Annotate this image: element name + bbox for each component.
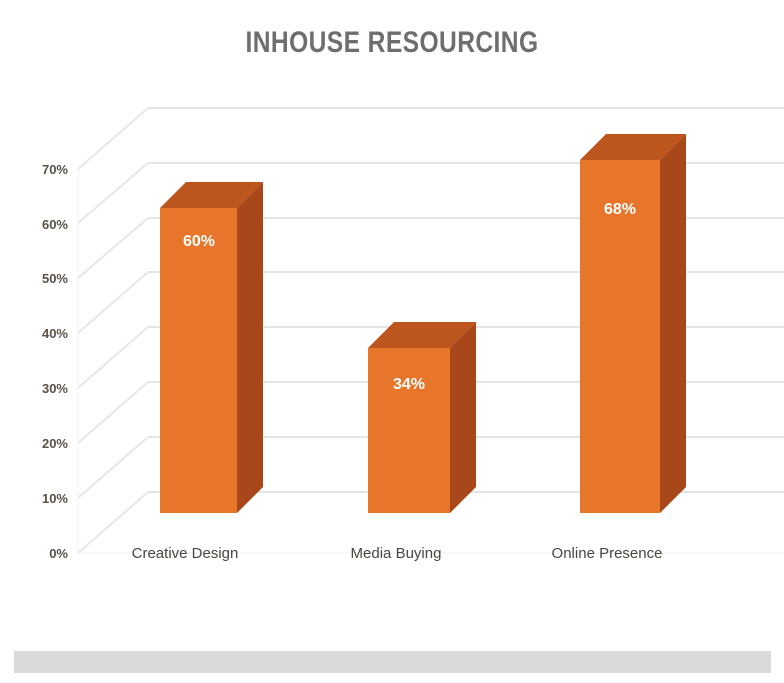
y-tick-label-60: 60% — [42, 217, 68, 232]
y-tick-label-30: 30% — [42, 381, 68, 396]
bar-side-face — [450, 322, 476, 513]
bar-online-presence[interactable]: 68% — [580, 134, 686, 513]
depth-line-0 — [78, 492, 148, 553]
bar-value-label: 34% — [393, 376, 425, 393]
depth-line-60 — [78, 163, 148, 223]
depth-line-10 — [78, 437, 148, 498]
y-tick-label-40: 40% — [42, 326, 68, 341]
footer-band — [14, 651, 771, 673]
category-label-creative-design: Creative Design — [132, 545, 239, 562]
depth-line-70 — [78, 108, 148, 169]
bar-creative-design[interactable]: 60% — [160, 182, 263, 513]
y-tick-label-20: 20% — [42, 436, 68, 451]
y-tick-label-10: 10% — [42, 491, 68, 506]
bar-side-face — [660, 134, 686, 513]
bar-value-label: 68% — [604, 201, 636, 218]
y-axis-ticks: 70% 60% 50% 40% 30% 20% 10% 0% — [42, 162, 68, 561]
bar-side-face — [237, 182, 263, 513]
bar-value-label: 60% — [183, 233, 215, 250]
depth-lines-group — [78, 108, 148, 553]
depth-line-40 — [78, 272, 148, 333]
bar-media-buying[interactable]: 34% — [368, 322, 476, 513]
category-label-media-buying: Media Buying — [351, 545, 442, 562]
chart-plot-area: 70% 60% 50% 40% 30% 20% 10% 0% 60% 34% — [0, 0, 784, 640]
y-tick-label-50: 50% — [42, 271, 68, 286]
bar-front-face — [160, 208, 237, 513]
depth-line-20 — [78, 382, 148, 443]
y-tick-label-0: 0% — [49, 546, 68, 561]
depth-line-50 — [78, 218, 148, 278]
chart-container: INHOUSE RESOURCING — [0, 0, 784, 683]
category-label-online-presence: Online Presence — [552, 545, 663, 562]
bar-front-face — [368, 348, 450, 513]
depth-line-30 — [78, 327, 148, 388]
x-axis-category-labels: Creative Design Media Buying Online Pres… — [132, 545, 663, 562]
y-tick-label-70: 70% — [42, 162, 68, 177]
